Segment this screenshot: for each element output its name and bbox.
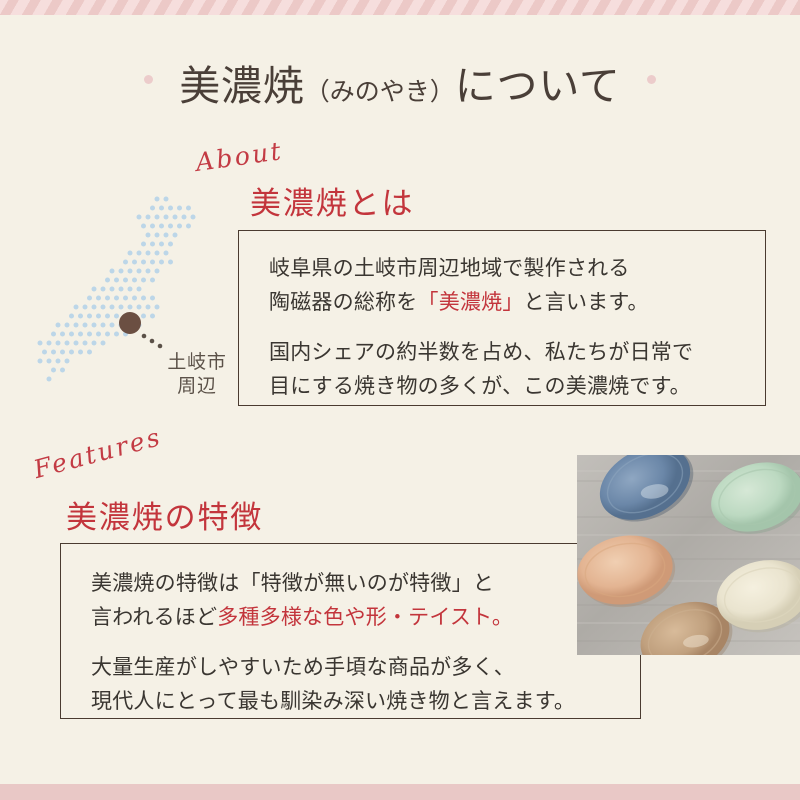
page-title-main: 美濃焼 <box>179 63 304 109</box>
bottom-band <box>0 784 800 800</box>
paragraph: 大量生産がしやすいため手頃な商品が多く、現代人にとって最も馴染み深い焼き物と言え… <box>91 650 614 718</box>
text-line: 目にする焼き物の多くが、この美濃焼です。 <box>269 369 739 403</box>
page-root: 美濃焼（みのやき）について About 美濃焼とは 土岐市 周辺 岐阜県の土岐市… <box>0 0 800 800</box>
text-line: 大量生産がしやすいため手頃な商品が多く、 <box>91 650 614 684</box>
body-text: 大量生産がしやすいため手頃な商品が多く、 <box>91 655 515 679</box>
text-line: 現代人にとって最も馴染み深い焼き物と言えます。 <box>91 684 614 718</box>
title-dot-left-icon <box>144 75 153 84</box>
text-line: 岐阜県の土岐市周辺地域で製作される <box>269 251 739 285</box>
body-text: 言われるほど <box>91 605 217 629</box>
toki-city-marker-icon <box>119 312 141 334</box>
body-text: と言います。 <box>524 290 649 314</box>
map-label-line1: 土岐市 <box>158 351 236 375</box>
text-line: 美濃焼の特徴は「特徴が無いのが特徴」と <box>91 566 614 600</box>
section-features-eyebrow: Features <box>30 422 164 484</box>
page-title-tail: について <box>455 63 621 109</box>
paragraph: 美濃焼の特徴は「特徴が無いのが特徴」と言われるほど多種多様な色や形・テイスト。 <box>91 566 614 634</box>
about-textbox: 岐阜県の土岐市周辺地域で製作される陶磁器の総称を「美濃焼」と言います。国内シェア… <box>238 230 766 406</box>
mino-ware-plates-photo <box>577 455 800 655</box>
map-label-line2: 周辺 <box>158 375 236 399</box>
accent-text: 「美濃焼」 <box>417 290 523 314</box>
features-textbox: 美濃焼の特徴は「特徴が無いのが特徴」と言われるほど多種多様な色や形・テイスト。大… <box>60 543 641 719</box>
body-text: 目にする焼き物の多くが、この美濃焼です。 <box>269 374 691 398</box>
paragraph: 国内シェアの約半数を占め、私たちが日常で目にする焼き物の多くが、この美濃焼です。 <box>269 335 739 403</box>
body-text: 美濃焼の特徴は「特徴が無いのが特徴」と <box>91 571 494 595</box>
section-about-eyebrow: About <box>194 136 285 177</box>
accent-text: 多種多様な色や形・テイスト。 <box>217 605 513 629</box>
body-text: 岐阜県の土岐市周辺地域で製作される <box>269 256 630 280</box>
body-text: 現代人にとって最も馴染み深い焼き物と言えます。 <box>91 689 575 713</box>
page-title-kana: （みのやき） <box>305 79 455 106</box>
title-dot-right-icon <box>647 75 656 84</box>
section-about-heading: 美濃焼とは <box>250 178 414 223</box>
plates-photo-svg <box>577 455 800 655</box>
paragraph: 岐阜県の土岐市周辺地域で製作される陶磁器の総称を「美濃焼」と言います。 <box>269 251 739 319</box>
page-title-row: 美濃焼（みのやき）について <box>0 52 800 112</box>
top-stripe-band <box>0 0 800 15</box>
text-line: 言われるほど多種多様な色や形・テイスト。 <box>91 600 614 634</box>
map-label: 土岐市 周辺 <box>158 351 236 399</box>
section-features-heading: 美濃焼の特徴 <box>66 492 263 537</box>
body-text: 陶磁器の総称を <box>269 290 417 314</box>
page-title: 美濃焼（みのやき）について <box>179 52 621 112</box>
text-line: 国内シェアの約半数を占め、私たちが日常で <box>269 335 739 369</box>
body-text: 国内シェアの約半数を占め、私たちが日常で <box>269 340 693 364</box>
text-line: 陶磁器の総称を「美濃焼」と言います。 <box>269 285 739 319</box>
